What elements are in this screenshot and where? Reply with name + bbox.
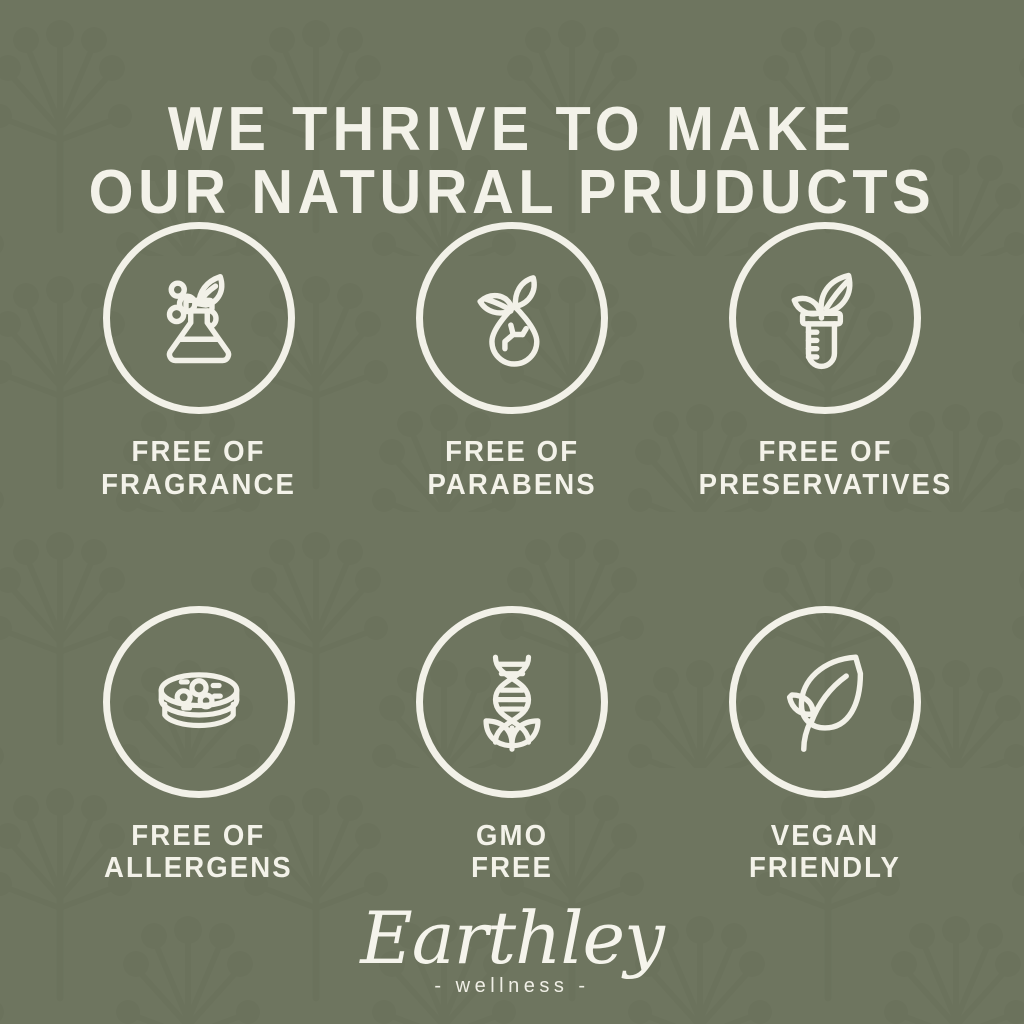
badge-free-of-parabens: FREE OF PARABENS xyxy=(372,222,652,502)
badge-gmo-free: GMO FREE xyxy=(372,606,652,886)
badge-free-of-fragrance: FREE OF FRAGRANCE xyxy=(59,222,339,502)
badge-label-line-1: FREE OF xyxy=(132,820,266,852)
badge-label-line-2: PRESERVATIVES xyxy=(698,469,952,502)
badge-label-line-2: PARABENS xyxy=(427,469,596,502)
badge-label: FREE OF PARABENS xyxy=(427,436,596,502)
badge-circle xyxy=(416,606,608,798)
badge-circle xyxy=(103,222,295,414)
badge-circle xyxy=(729,222,921,414)
badge-free-of-preservatives: FREE OF PRESERVATIVES xyxy=(685,222,965,502)
badge-label-line-2: FRIENDLY xyxy=(749,852,901,885)
two-leaves-sprig-icon xyxy=(766,643,884,761)
badge-label-line-2: FRAGRANCE xyxy=(101,469,296,502)
badge-vegan-friendly: VEGAN FRIENDLY xyxy=(685,606,965,886)
badge-circle xyxy=(103,606,295,798)
badge-label-line-2: FREE xyxy=(471,852,553,885)
badge-label: FREE OF FRAGRANCE xyxy=(101,436,296,502)
badge-circle xyxy=(729,606,921,798)
page-title: WE THRIVE TO MAKE OUR NATURAL PRUDUCTS xyxy=(36,98,988,224)
badge-label-line-1: FREE OF xyxy=(758,436,892,468)
badge-free-of-allergens: FREE OF ALLERGENS xyxy=(59,606,339,886)
dna-helix-with-leaves-icon xyxy=(453,643,571,761)
headline-line-2: OUR NATURAL PRUDUCTS xyxy=(36,161,988,224)
droplet-with-leaves-and-molecule-icon xyxy=(453,259,571,377)
badge-label-line-1: FREE OF xyxy=(132,436,266,468)
brand-wordmark: Earthley xyxy=(0,905,1024,973)
brand-logo: Earthley - wellness - xyxy=(0,905,1024,998)
badge-label-line-1: VEGAN xyxy=(771,820,879,852)
badge-label: FREE OF ALLERGENS xyxy=(104,820,293,886)
headline-line-1: WE THRIVE TO MAKE xyxy=(36,98,988,161)
poster-canvas: WE THRIVE TO MAKE OUR NATURAL PRUDUCTS xyxy=(0,0,1024,1024)
badge-grid: FREE OF FRAGRANCE xyxy=(42,222,982,885)
badge-circle xyxy=(416,222,608,414)
badge-label: VEGAN FRIENDLY xyxy=(749,820,901,886)
petri-dish-with-colonies-icon xyxy=(140,643,258,761)
badge-label-line-1: FREE OF xyxy=(445,436,579,468)
flask-with-leaf-and-bubbles-icon xyxy=(140,259,258,377)
brand-tagline: - wellness - xyxy=(0,975,1024,998)
badge-label: FREE OF PRESERVATIVES xyxy=(698,436,952,502)
test-tube-with-leaves-icon xyxy=(766,259,884,377)
poster-content: WE THRIVE TO MAKE OUR NATURAL PRUDUCTS xyxy=(0,0,1024,1024)
badge-label-line-2: ALLERGENS xyxy=(104,852,293,885)
badge-label: GMO FREE xyxy=(471,820,553,886)
badge-label-line-1: GMO xyxy=(476,820,548,852)
